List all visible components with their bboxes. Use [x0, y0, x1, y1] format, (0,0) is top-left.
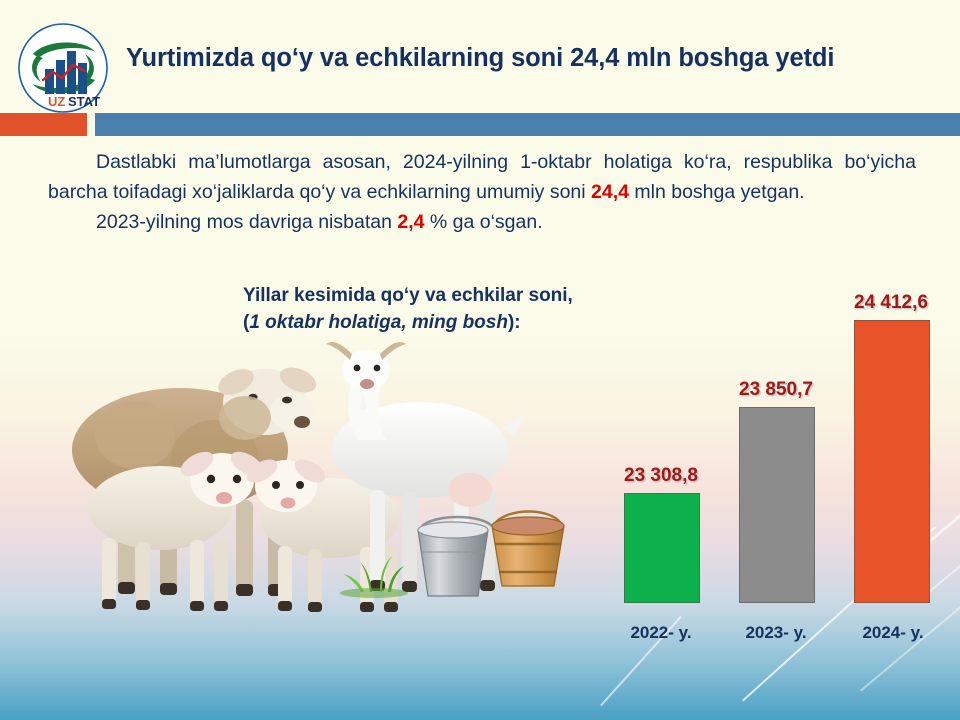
axis-label-2022: 2022- y. [596, 623, 726, 643]
logo-text-stat: STAT [68, 94, 100, 109]
sheep-and-goat-photo [40, 340, 580, 620]
header-band-blue [95, 113, 960, 136]
paragraph1-highlight: 24,4 [591, 181, 629, 203]
chart-caption: Yillar kesimida qo‘y va echkilar soni, (… [243, 283, 573, 337]
bar-2024[interactable] [854, 320, 930, 603]
paragraph2-part1: 2023-yilning mos davriga nisbatan [96, 211, 397, 233]
paragraph1-part2: mln boshga yetgan. [629, 181, 805, 203]
paragraph-primary: Dastlabki ma’lumotlarga asosan, 2024-yil… [48, 148, 916, 207]
bar-value-label-2024: 24 412,6 [826, 292, 956, 314]
bar-chart: 23 308,8 2022- y. 23 850,7 2023- y. 24 4… [596, 280, 960, 655]
axis-label-2024: 2024- y. [828, 623, 958, 643]
infographic-slide: UZ STAT Yurtimizda qo‘y va echkilarning … [0, 0, 960, 720]
body-text: Dastlabki ma’lumotlarga asosan, 2024-yil… [48, 148, 916, 238]
paragraph2-highlight: 2,4 [397, 211, 424, 233]
bar-2022[interactable] [624, 493, 700, 603]
header-band-orange [0, 113, 87, 136]
logo-text-uz: UZ [48, 94, 65, 109]
chart-caption-line2: (1 oktabr holatiga, ming bosh): [243, 310, 573, 337]
page-title: Yurtimizda qo‘y va echkilarning soni 24,… [126, 44, 946, 73]
header: UZ STAT Yurtimizda qo‘y va echkilarning … [0, 0, 960, 112]
wooden-bucket [492, 512, 564, 587]
goat-horn [380, 342, 406, 360]
bar-value-label-2022: 23 308,8 [596, 465, 726, 487]
paragraph-secondary: 2023-yilning mos davriga nisbatan 2,4 % … [48, 208, 916, 238]
caption-paren-close: ): [508, 312, 521, 333]
caption-italic: 1 oktabr holatiga, ming bosh [249, 312, 508, 333]
chart-caption-line1: Yillar kesimida qo‘y va echkilar soni, [243, 283, 573, 310]
paragraph2-part2: % ga o‘sgan. [424, 211, 542, 233]
goat-horn [326, 342, 352, 360]
goat-udder [448, 473, 492, 507]
bar-2023[interactable] [739, 407, 815, 603]
uzstat-logo: UZ STAT [17, 22, 109, 114]
axis-label-2023: 2023- y. [711, 623, 841, 643]
bar-value-label-2023: 23 850,7 [711, 379, 841, 401]
